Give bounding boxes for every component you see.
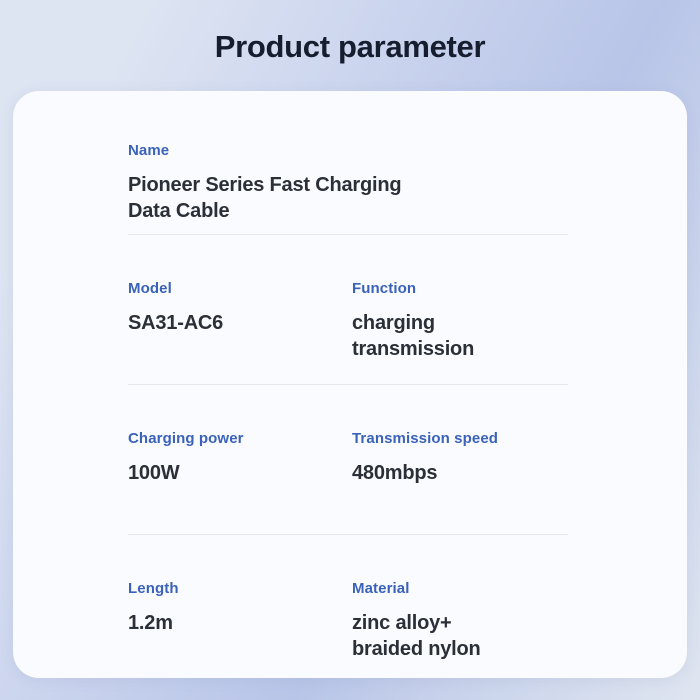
spec-row: Length 1.2m Material zinc alloy+ braided… bbox=[128, 535, 568, 665]
spec-value-line: Data Cable bbox=[128, 198, 568, 224]
spec-value: zinc alloy+ braided nylon bbox=[352, 610, 568, 662]
spec-value: charging transmission bbox=[352, 310, 568, 362]
spec-card: Name Pioneer Series Fast Charging Data C… bbox=[13, 91, 687, 678]
spec-value-line: SA31-AC6 bbox=[128, 310, 352, 336]
spec-list: Name Pioneer Series Fast Charging Data C… bbox=[128, 91, 568, 665]
spec-value: 1.2m bbox=[128, 610, 352, 636]
spec-field-material: Material zinc alloy+ braided nylon bbox=[352, 579, 568, 665]
spec-row: Model SA31-AC6 Function charging transmi… bbox=[128, 235, 568, 385]
spec-label: Material bbox=[352, 579, 568, 599]
spec-row: Charging power 100W Transmission speed 4… bbox=[128, 385, 568, 535]
spec-value-line: Pioneer Series Fast Charging bbox=[128, 172, 568, 198]
spec-label: Charging power bbox=[128, 429, 352, 449]
spec-label: Name bbox=[128, 141, 568, 161]
spec-value-line: zinc alloy+ bbox=[352, 610, 568, 636]
spec-field-model: Model SA31-AC6 bbox=[128, 279, 352, 385]
spec-label: Function bbox=[352, 279, 568, 299]
spec-value: SA31-AC6 bbox=[128, 310, 352, 336]
spec-field-length: Length 1.2m bbox=[128, 579, 352, 665]
spec-label: Model bbox=[128, 279, 352, 299]
spec-value-line: braided nylon bbox=[352, 636, 568, 662]
spec-value-line: charging bbox=[352, 310, 568, 336]
spec-label: Length bbox=[128, 579, 352, 599]
spec-label: Transmission speed bbox=[352, 429, 568, 449]
spec-value-line: 100W bbox=[128, 460, 352, 486]
spec-value: 100W bbox=[128, 460, 352, 486]
spec-field-charging-power: Charging power 100W bbox=[128, 429, 352, 535]
spec-value-line: transmission bbox=[352, 336, 568, 362]
spec-field-name: Name Pioneer Series Fast Charging Data C… bbox=[128, 141, 568, 235]
spec-value-line: 480mbps bbox=[352, 460, 568, 486]
spec-value: Pioneer Series Fast Charging Data Cable bbox=[128, 172, 568, 224]
spec-value-line: 1.2m bbox=[128, 610, 352, 636]
product-parameter-page: Product parameter Name Pioneer Series Fa… bbox=[0, 0, 700, 700]
page-title: Product parameter bbox=[0, 25, 700, 69]
spec-field-function: Function charging transmission bbox=[352, 279, 568, 385]
spec-field-transmission-speed: Transmission speed 480mbps bbox=[352, 429, 568, 535]
spec-row: Name Pioneer Series Fast Charging Data C… bbox=[128, 91, 568, 235]
spec-value: 480mbps bbox=[352, 460, 568, 486]
